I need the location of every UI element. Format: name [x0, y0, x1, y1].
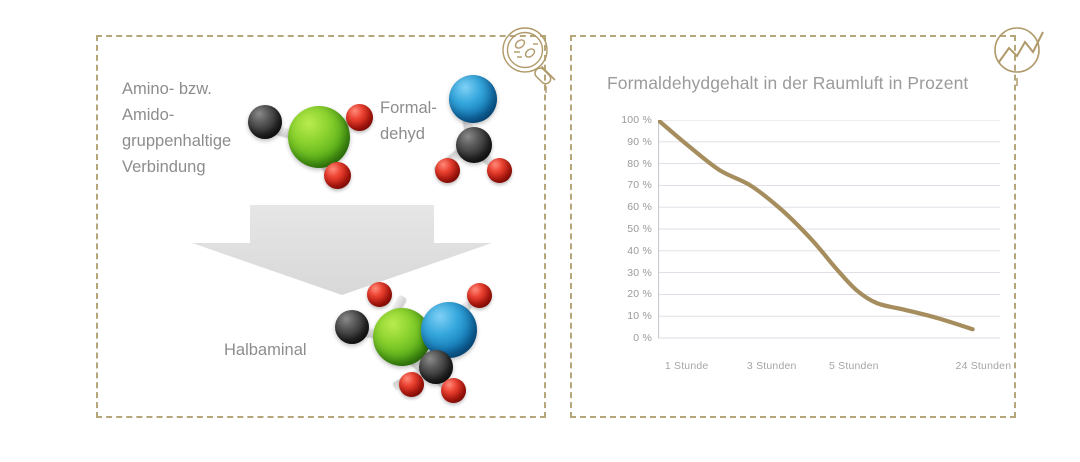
atom-red: [441, 378, 466, 403]
x-axis-tick: 5 Stunden: [829, 360, 879, 372]
x-axis-tick: 1 Stunde: [665, 360, 709, 372]
y-axis-tick: 20 %: [604, 288, 652, 300]
atom-red: [346, 104, 373, 131]
chart-plot-container: 100 %90 %80 %70 %60 %50 %40 %30 %20 %10 …: [600, 120, 1000, 380]
atom-red: [467, 283, 492, 308]
y-axis-tick: 10 %: [604, 310, 652, 322]
atom-red: [487, 158, 512, 183]
y-axis-tick: 70 %: [604, 179, 652, 191]
atom-red: [399, 372, 424, 397]
y-axis-tick: 60 %: [604, 201, 652, 213]
y-axis-tick: 80 %: [604, 158, 652, 170]
y-axis-tick: 0 %: [604, 332, 652, 344]
atom-black: [335, 310, 369, 344]
x-axis-labels: 1 Stunde3 Stunden5 Stunden24 Stunden: [658, 352, 1000, 380]
series-line: [658, 120, 973, 329]
y-axis-labels: 100 %90 %80 %70 %60 %50 %40 %30 %20 %10 …: [600, 120, 652, 338]
y-axis-tick: 50 %: [604, 223, 652, 235]
hemiaminal-molecule: [325, 278, 500, 403]
atom-red: [435, 158, 460, 183]
atom-blue: [421, 302, 477, 358]
atom-red: [367, 282, 392, 307]
page-root: Amino- bzw. Amido- gruppenhaltige Verbin…: [0, 0, 1080, 462]
y-axis-tick: 90 %: [604, 136, 652, 148]
atom-black: [456, 127, 492, 163]
chart-title: Formaldehydgehalt in der Raumluft in Pro…: [607, 73, 968, 94]
x-axis-tick: 3 Stunden: [747, 360, 797, 372]
line-chart-svg: [658, 120, 1000, 352]
atom-black: [248, 105, 282, 139]
y-axis-tick: 40 %: [604, 245, 652, 257]
amino-compound-molecule: [240, 82, 370, 192]
y-axis-tick: 30 %: [604, 267, 652, 279]
atom-red: [324, 162, 351, 189]
magnifier-molecules-icon: [497, 22, 571, 96]
x-axis-tick: 24 Stunden: [956, 360, 1012, 372]
atom-blue: [449, 75, 497, 123]
trend-chart-icon: [987, 22, 1057, 92]
y-axis-tick: 100 %: [604, 114, 652, 126]
atom-green: [288, 106, 350, 168]
